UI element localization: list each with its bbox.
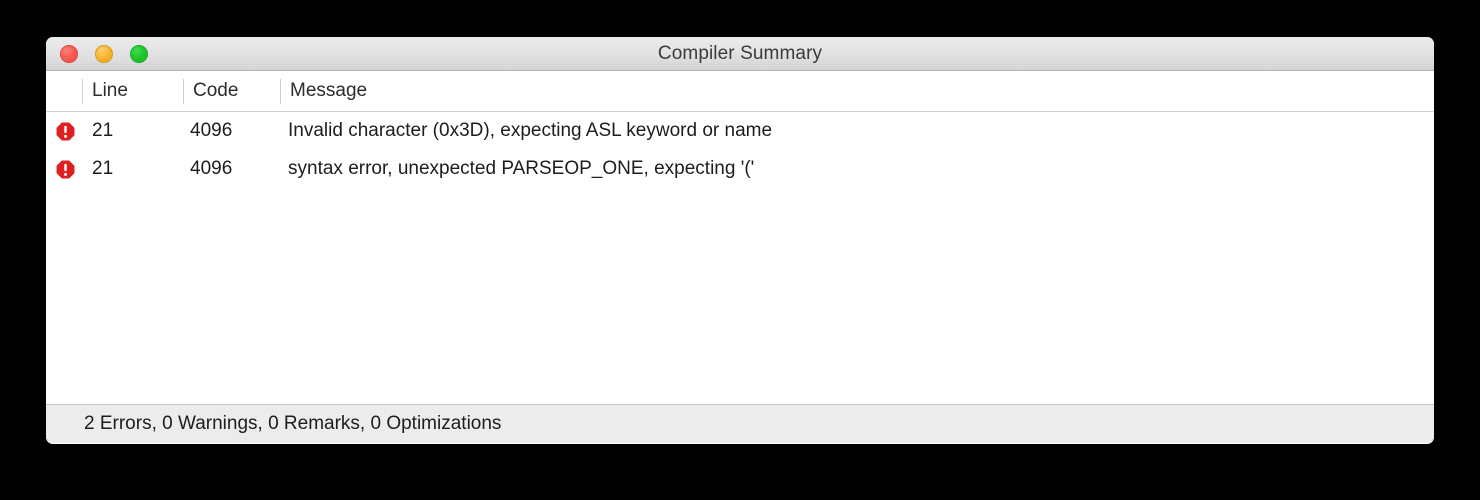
cell-code: 4096 xyxy=(190,112,232,150)
window-titlebar[interactable]: Compiler Summary xyxy=(46,37,1434,71)
column-header-code[interactable]: Code xyxy=(193,71,238,111)
status-bar: 2 Errors, 0 Warnings, 0 Remarks, 0 Optim… xyxy=(46,404,1434,443)
status-summary: 2 Errors, 0 Warnings, 0 Remarks, 0 Optim… xyxy=(84,405,501,443)
cell-message: syntax error, unexpected PARSEOP_ONE, ex… xyxy=(288,150,754,188)
column-header-message[interactable]: Message xyxy=(290,71,367,111)
compiler-summary-window: Compiler Summary Line Code Message 21 40… xyxy=(46,37,1434,444)
cell-code: 4096 xyxy=(190,150,232,188)
diagnostics-list[interactable]: 21 4096 Invalid character (0x3D), expect… xyxy=(46,112,1434,404)
table-header-row: Line Code Message xyxy=(46,71,1434,112)
cell-line: 21 xyxy=(92,150,113,188)
cell-line: 21 xyxy=(92,112,113,150)
table-row[interactable]: 21 4096 syntax error, unexpected PARSEOP… xyxy=(46,150,1434,188)
error-octagon-icon xyxy=(51,150,79,188)
column-header-line[interactable]: Line xyxy=(92,71,128,111)
column-divider-3 xyxy=(280,79,281,104)
column-divider-2 xyxy=(183,79,184,104)
column-divider-1 xyxy=(82,79,83,104)
window-title: Compiler Summary xyxy=(46,37,1434,70)
table-row[interactable]: 21 4096 Invalid character (0x3D), expect… xyxy=(46,112,1434,150)
error-octagon-icon xyxy=(51,112,79,150)
cell-message: Invalid character (0x3D), expecting ASL … xyxy=(288,112,772,150)
